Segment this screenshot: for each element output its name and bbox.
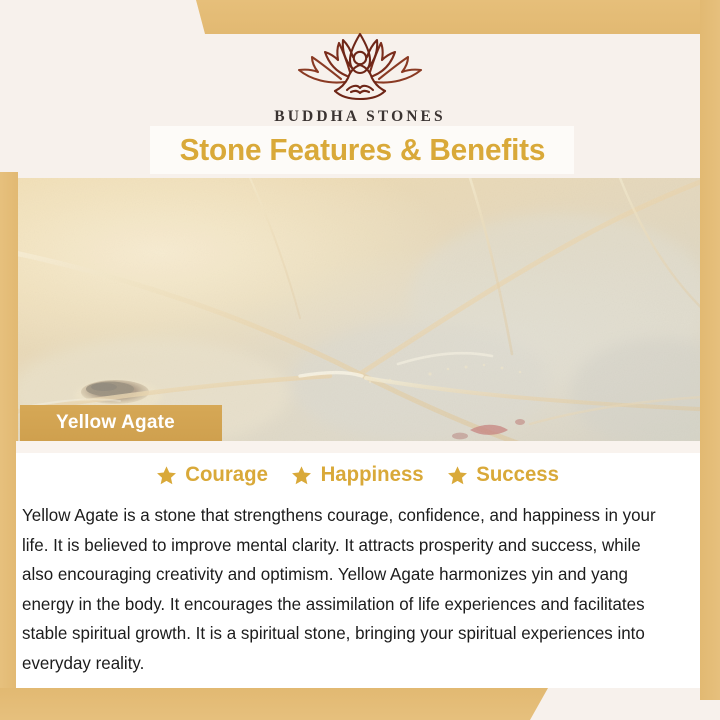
content-panel: Courage Happiness Success Yellow Agate i… — [16, 441, 700, 688]
poster-root: BUDDHA STONES Stone Features & Benefits — [0, 0, 720, 720]
benefit-item: Success — [447, 463, 560, 487]
stone-description: Yellow Agate is a stone that strengthens… — [22, 501, 670, 678]
benefit-label: Courage — [185, 463, 268, 487]
star-icon — [447, 465, 468, 486]
benefit-label: Success — [476, 463, 559, 487]
benefit-label: Happiness — [320, 463, 423, 487]
star-icon — [156, 465, 177, 486]
lotus-meditation-icon — [285, 26, 435, 102]
benefit-item: Happiness — [291, 463, 425, 487]
stone-label-text: Yellow Agate — [56, 412, 175, 434]
star-icon — [291, 465, 312, 486]
benefits-row: Courage Happiness Success — [16, 463, 700, 487]
brand-logo: BUDDHA STONES — [0, 26, 720, 126]
brand-name: BUDDHA STONES — [274, 108, 445, 126]
page-title: Stone Features & Benefits — [179, 132, 545, 168]
stone-label: Yellow Agate — [20, 405, 222, 441]
title-banner: Stone Features & Benefits — [150, 126, 574, 174]
gold-accent-bottom — [0, 688, 720, 720]
benefit-item: Courage — [156, 463, 269, 487]
panel-top-tint — [16, 441, 700, 453]
